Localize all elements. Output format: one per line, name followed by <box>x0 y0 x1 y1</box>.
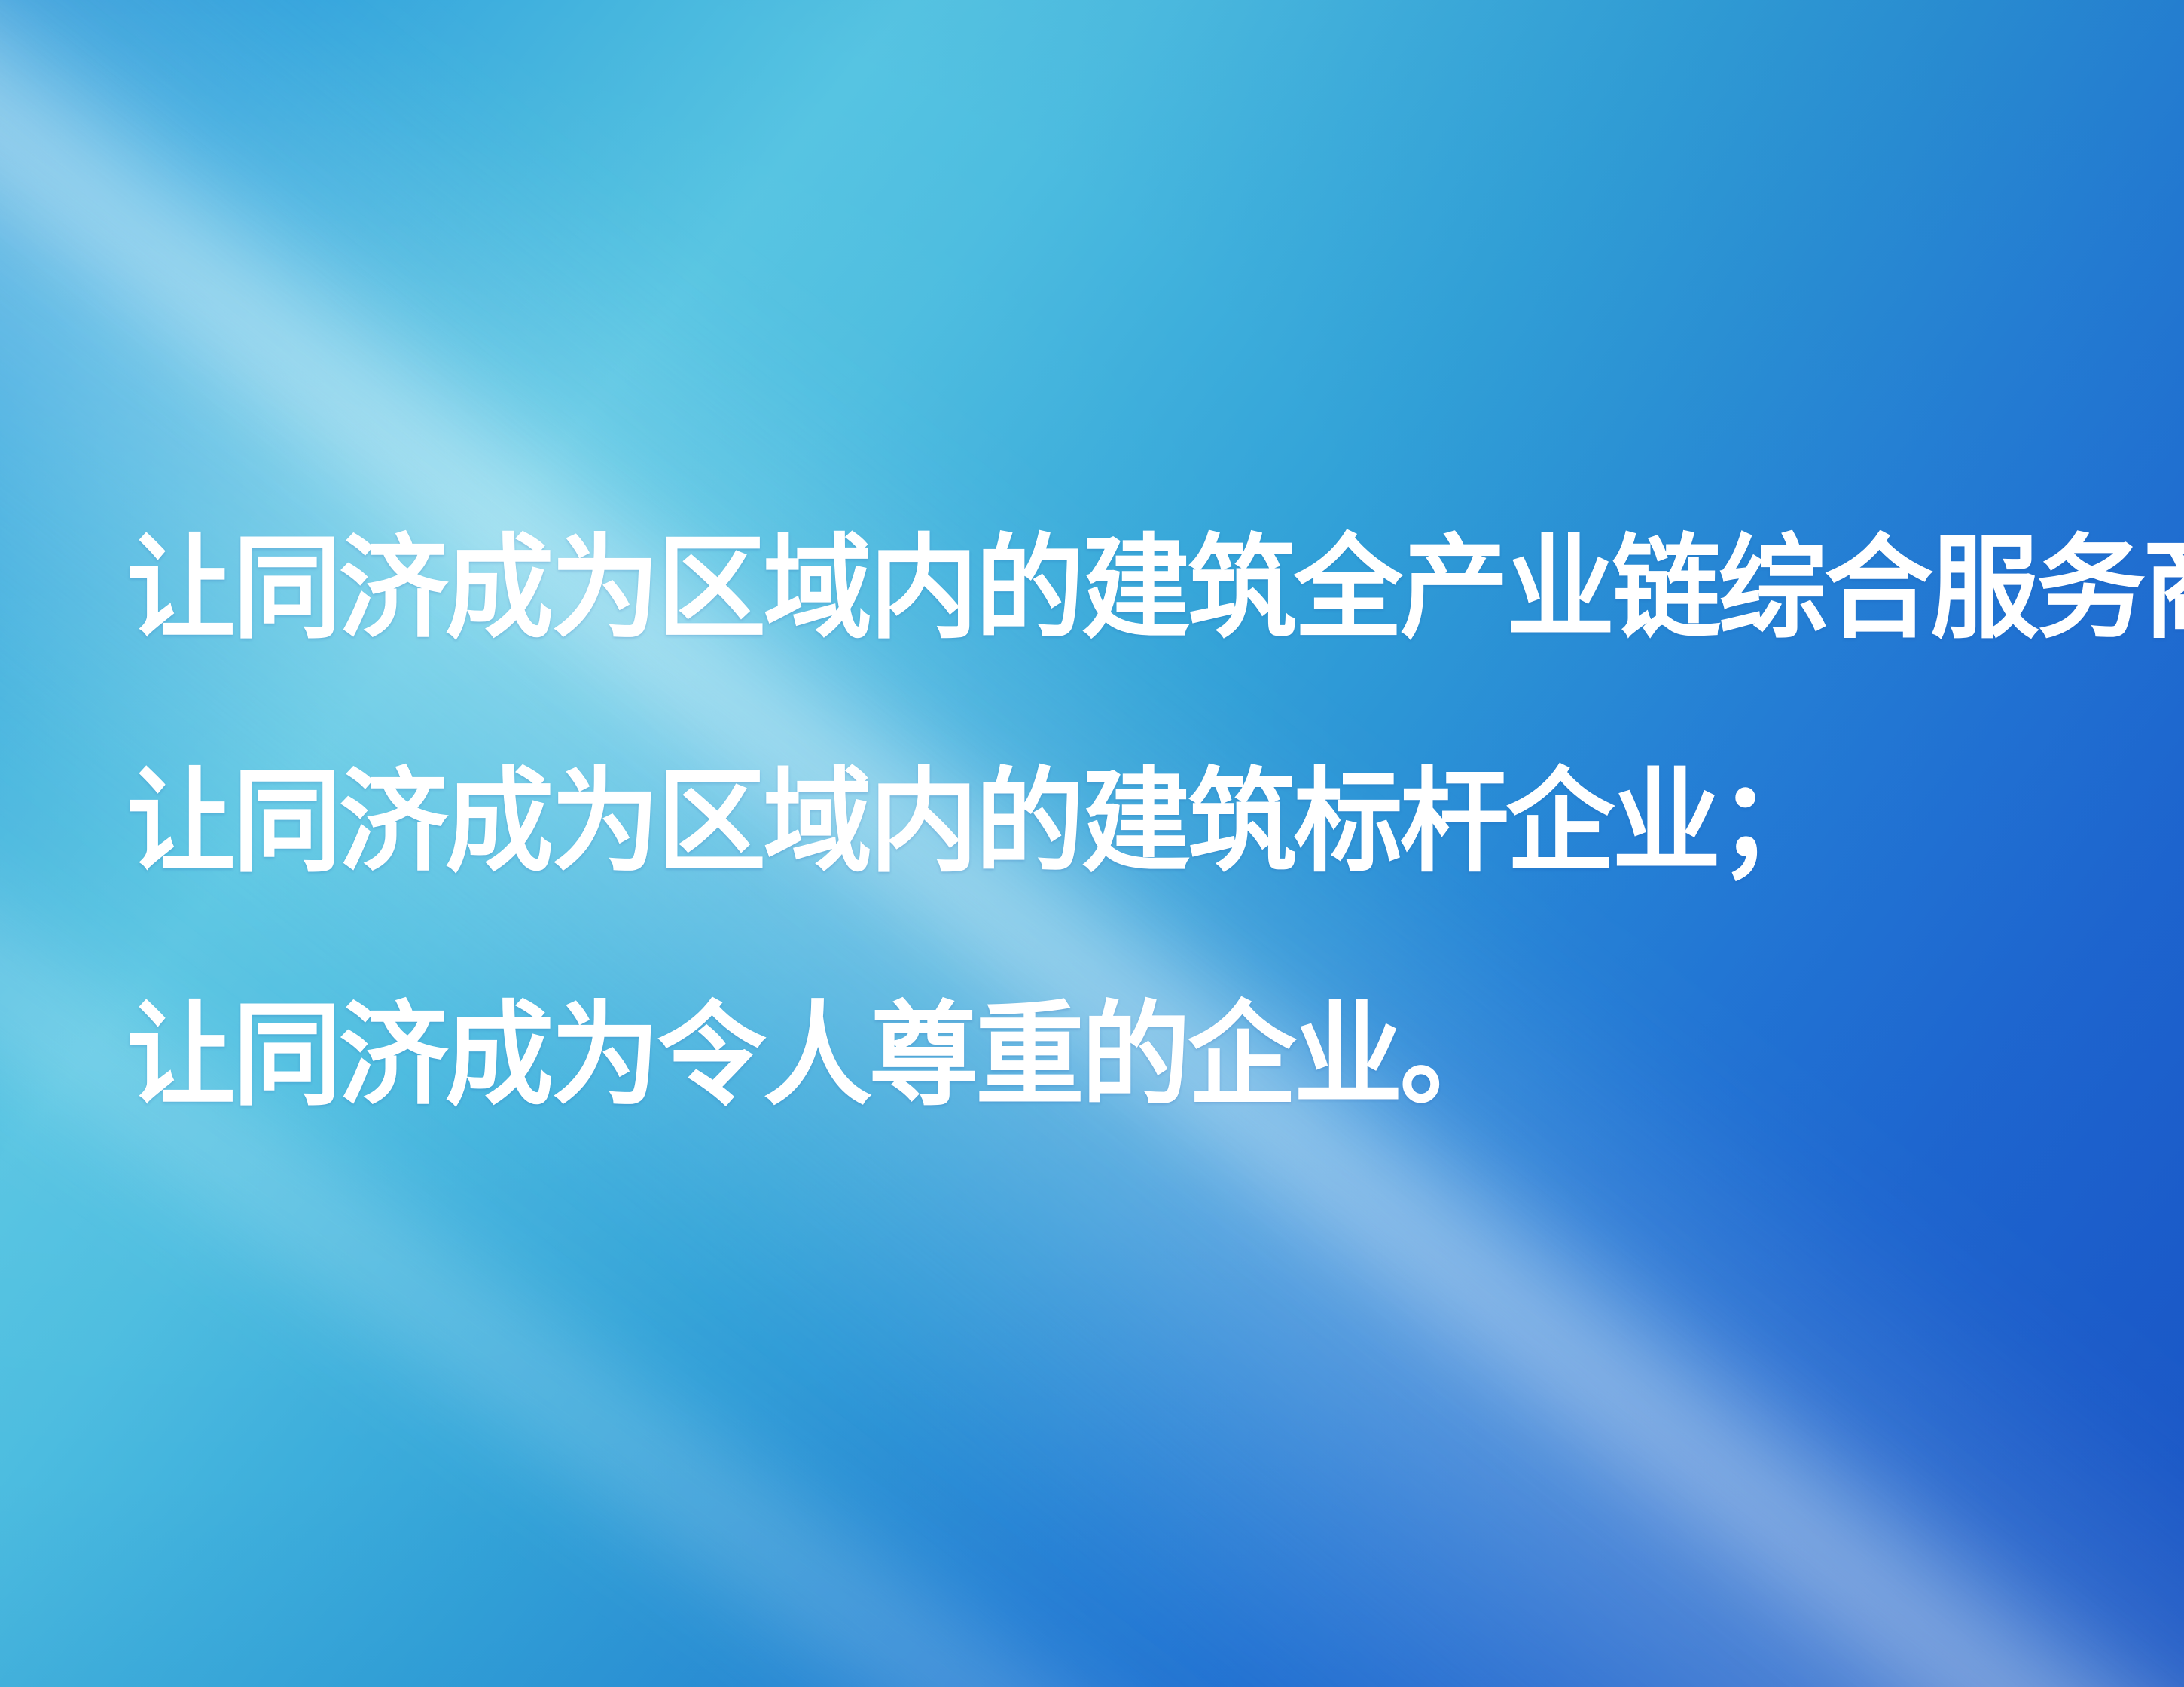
slide-text-line-2: 让同济成为区域内的建筑标杆企业； <box>127 705 2016 938</box>
slide-body-text: 让同济成为区域内的建筑全产业链综合服务商； 让同济成为区域内的建筑标杆企业； 让… <box>127 471 2085 1172</box>
slide-text-line-1: 让同济成为区域内的建筑全产业链综合服务商； <box>127 471 2016 705</box>
slide-text-line-3: 让同济成为令人尊重的企业。 <box>127 938 2016 1172</box>
presentation-slide: 让同济成为区域内的建筑全产业链综合服务商； 让同济成为区域内的建筑标杆企业； 让… <box>0 0 2184 1687</box>
